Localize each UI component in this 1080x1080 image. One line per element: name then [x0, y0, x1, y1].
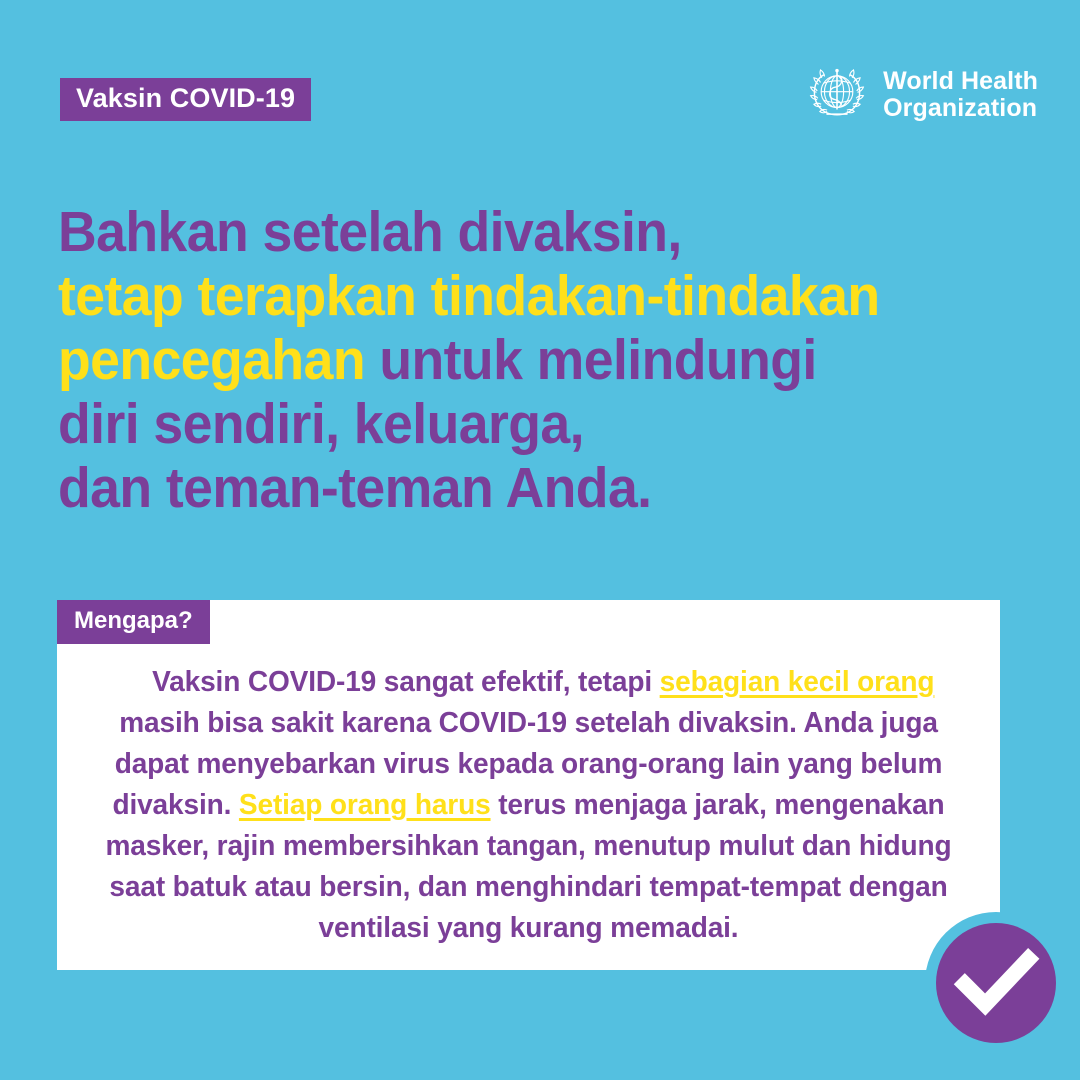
headline-line-5: dan teman-teman Anda.: [58, 456, 960, 520]
check-badge: [925, 912, 1080, 1067]
why-badge: Mengapa?: [57, 600, 210, 644]
who-logo: World Health Organization: [804, 62, 1038, 128]
info-card: Mengapa? Vaksin COVID-19 sangat efektif,…: [57, 600, 1000, 970]
check-mark-icon: [936, 923, 1056, 1043]
headline-run-2-1: tetap terapkan tindakan-tindakan: [58, 264, 880, 328]
headline-line-3: pencegahan untuk melindungi: [58, 328, 960, 392]
headline-run-3-2: untuk melindungi: [365, 328, 817, 392]
topic-badge: Vaksin COVID-19: [60, 78, 311, 121]
body-text-1: Vaksin COVID-19 sangat efektif, tetapi: [152, 666, 660, 698]
headline-line-4: diri sendiri, keluarga,: [58, 392, 960, 456]
poster-canvas: Vaksin COVID-19: [0, 0, 1080, 1080]
who-emblem-icon: [804, 62, 870, 128]
headline-run-4-1: diri sendiri, keluarga,: [58, 392, 584, 456]
headline-run-5-1: dan teman-teman Anda.: [58, 456, 652, 520]
headline-line-2: tetap terapkan tindakan-tindakan: [58, 264, 960, 328]
card-body-text: Vaksin COVID-19 sangat efektif, tetapi s…: [86, 662, 972, 949]
body-highlight-4: Setiap orang harus: [239, 789, 491, 821]
body-highlight-2: sebagian kecil orang: [660, 666, 935, 698]
headline-run-1-1: Bahkan setelah divaksin,: [58, 200, 682, 264]
headline-run-3-1: pencegahan: [58, 328, 365, 392]
headline: Bahkan setelah divaksin,tetap terapkan t…: [58, 200, 960, 520]
headline-line-1: Bahkan setelah divaksin,: [58, 200, 960, 264]
who-wordmark: World Health Organization: [883, 68, 1038, 122]
